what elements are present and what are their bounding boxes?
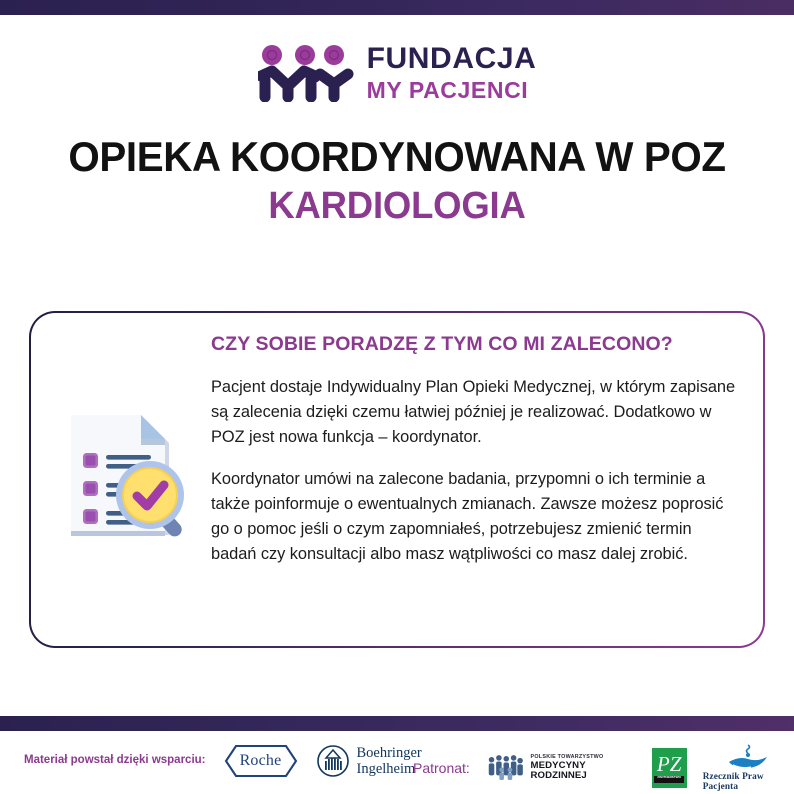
boehringer-wordmark: Boehringer Ingelheim [357,745,422,777]
boehringer-line2: Ingelheim [357,761,422,777]
ptmr-line2: MEDYCYNY RODZINNEJ [531,761,636,782]
boehringer-line1: Boehringer [357,745,422,761]
brand-line1: FUNDACJA [367,44,537,74]
rzecznik-praw-pacjenta-logo-icon: Rzecznik Praw Pacjenta [703,744,794,792]
ptmr-wordmark: POLSKIE TOWARZYSTWO MEDYCYNY RODZINNEJ [531,755,636,782]
bottom-accent-bar [0,716,794,731]
boehringer-ingelheim-logo-icon: Boehringer Ingelheim [316,745,422,777]
card-text-column: CZY SOBIE PORADZĘ Z TYM CO MI ZALECONO? … [211,330,736,567]
poster-page: FUNDACJA MY PACJENCI OPIEKA KOORDYNOWANA… [0,0,794,794]
sponsors-block: Materiał powstał dzięki wsparciu: Roche [24,744,422,778]
card-paragraph-2: Koordynator umówi na zalecone badania, p… [211,467,736,567]
roche-label: Roche [240,752,282,770]
patronage-label: Patronat: [413,759,470,778]
card-paragraph-1: Pacjent dostaje Indywidualny Plan Opieki… [211,375,736,450]
brand-wordmark: FUNDACJA MY PACJENCI [367,44,537,102]
card-heading: CZY SOBIE PORADZĘ Z TYM CO MI ZALECONO? [211,330,736,358]
my-people-logo-icon [258,44,354,102]
brand-line2: MY PACJENCI [367,79,537,102]
pz-green-logo-icon: PZ PARTNERSTWO [652,748,687,788]
pz-monogram: PZ [657,754,682,775]
page-title: OPIEKA KOORDYNOWANA W POZ [16,133,778,181]
checklist-document-magnifier-icon [57,405,197,545]
rpp-label: Rzecznik Praw Pacjenta [703,772,794,792]
pz-caption: PARTNERSTWO [654,776,684,783]
ptmr-people-logo-icon: POLSKIE TOWARZYSTWO MEDYCYNY RODZINNEJ [486,753,636,783]
footer: Materiał powstał dzięki wsparciu: Roche [0,731,794,794]
roche-hexagon-logo-icon: Roche [224,744,298,778]
support-label: Materiał powstał dzięki wsparciu: [24,753,206,769]
patrons-block: Patronat: POLSKIE TO [413,744,794,792]
top-accent-bar [0,0,794,15]
brand-logo: FUNDACJA MY PACJENCI [0,42,794,104]
page-subtitle: KARDIOLOGIA [16,185,778,228]
info-card: CZY SOBIE PORADZĘ Z TYM CO MI ZALECONO? … [29,311,765,648]
